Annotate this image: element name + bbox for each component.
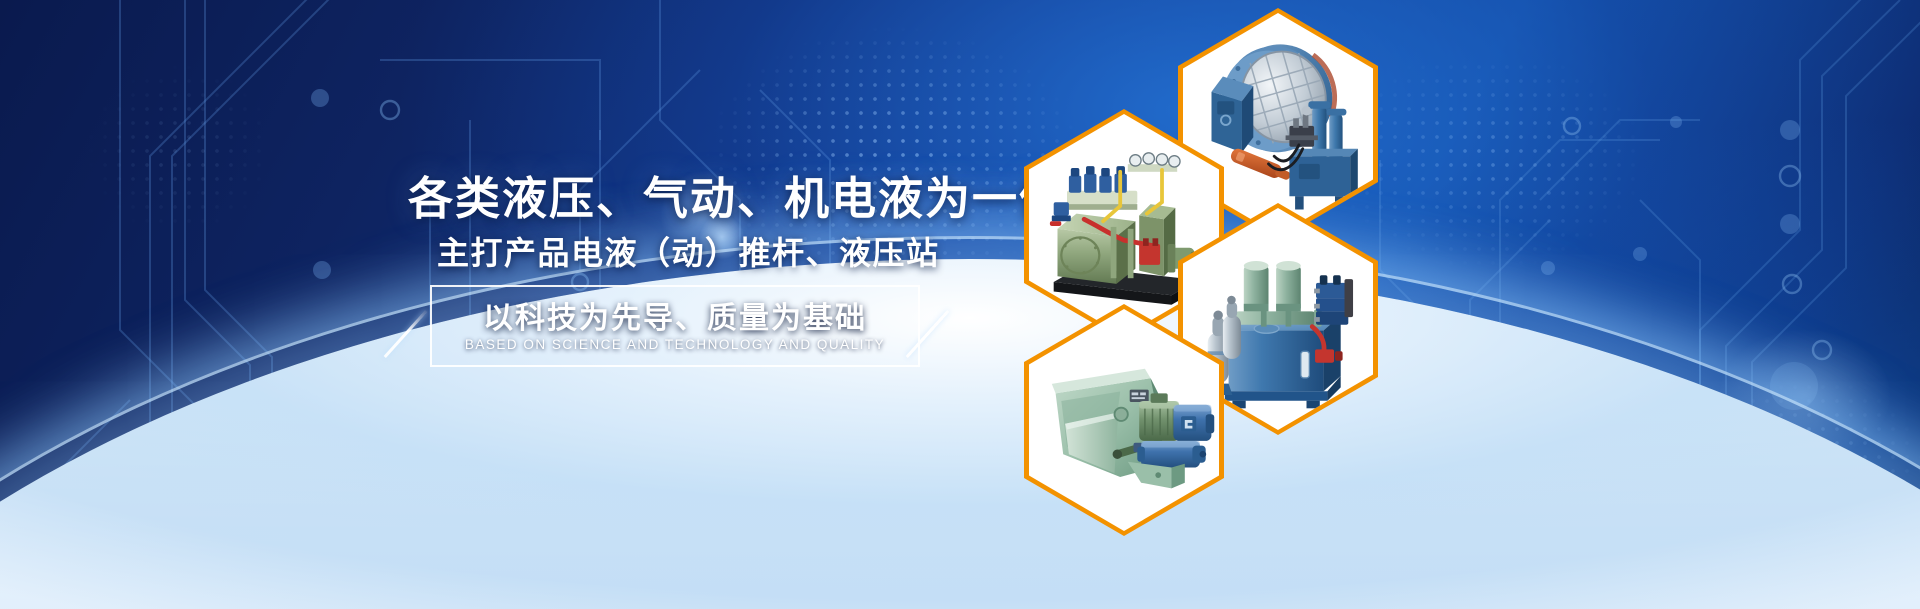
glow-accent-right-flare [1720, 330, 1890, 460]
halftone-dot-field-far-right [1620, 380, 1920, 609]
tagline-english: BASED ON SCIENCE AND TECHNOLOGY AND QUAL… [430, 337, 920, 352]
hero-banner: 各类液压、气动、机电液为一体 主打产品电液（动）推杆、液压站 以科技为先导、质量… [0, 0, 1920, 609]
diagonal-accent-slash-left [384, 310, 428, 358]
hero-subheadline: 主打产品电液（动）推杆、液压站 [437, 228, 940, 274]
hero-text-block: 各类液压、气动、机电液为一体 主打产品电液（动）推杆、液压站 以科技为先导、质量… [0, 0, 960, 609]
product-hexagon-cluster [960, 0, 1440, 609]
tagline-chinese: 以科技为先导、质量为基础 [430, 293, 920, 337]
